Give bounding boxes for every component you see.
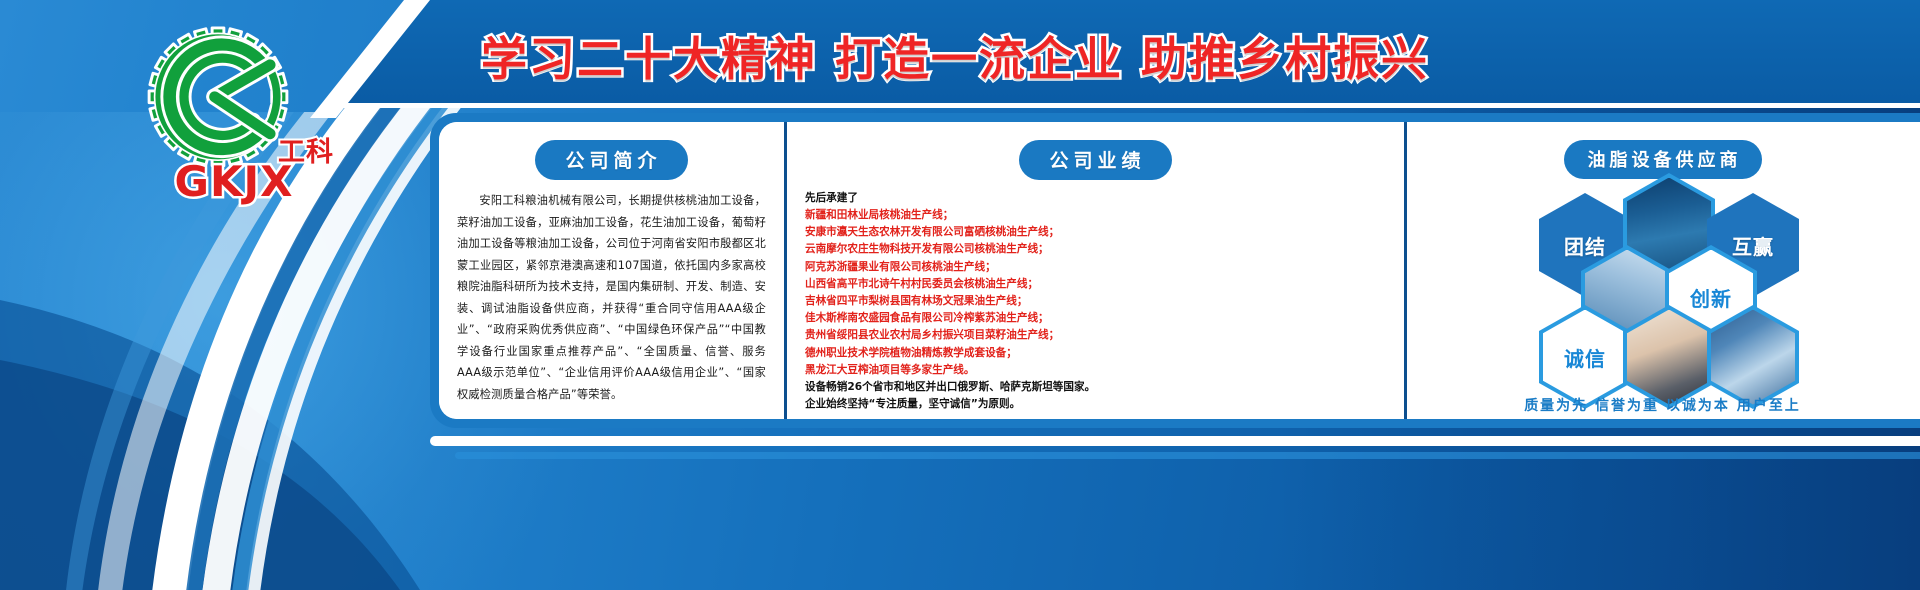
supplier-slogan: 质量为先 信誉为重 以诚为本 用户至上	[1407, 395, 1918, 415]
handshake-photo	[1627, 310, 1711, 405]
hex-integrity-label: 诚信	[1564, 343, 1606, 372]
panel-title-company-profile: 公司简介	[535, 140, 687, 180]
company-profile-text: 安阳工科粮油机械有限公司，长期提供核桃油加工设备，菜籽油加工设备，亚麻油加工设备…	[457, 190, 766, 405]
list-item: 贵州省绥阳县农业农村局乡村振兴项目菜籽油生产线；	[805, 327, 1386, 344]
content-board-inner: 公司简介 安阳工科粮油机械有限公司，长期提供核桃油加工设备，菜籽油加工设备，亚麻…	[439, 122, 1920, 419]
list-item: 德州职业技术学院植物油精炼教学成套设备；	[805, 345, 1386, 362]
panel-title-supplier: 油脂设备供应商	[1564, 140, 1762, 179]
list-item: 吉林省四平市梨树县国有林场文冠果油生产线；	[805, 293, 1386, 310]
hexagon-cluster: 团结 互赢 创新	[1425, 189, 1900, 399]
panel-company-achievements: 公司业绩 先后承建了 新疆和田林业局核桃油生产线； 安康市瀛天生态农林开发有限公…	[784, 122, 1404, 419]
list-item: 佳木斯桦南农盛园食品有限公司冷榨紫苏油生产线；	[805, 310, 1386, 327]
building-photo	[1711, 310, 1795, 405]
gear-logo-icon	[134, 26, 302, 176]
list-item: 云南摩尔农庄生物科技开发有限公司核桃油生产线；	[805, 241, 1386, 258]
hex-unity-label: 团结	[1564, 231, 1606, 260]
list-item: 新疆和田林业局核桃油生产线；	[805, 207, 1386, 224]
bottom-blue-strip	[455, 452, 1920, 459]
content-board: 公司简介 安阳工科粮油机械有限公司，长期提供核桃油加工设备，菜籽油加工设备，亚麻…	[430, 113, 1920, 428]
achievements-footer-line-2: 企业始终坚持“专注质量，坚守诚信”为原则。	[805, 396, 1386, 413]
achievements-intro: 先后承建了	[805, 190, 1386, 207]
panel-title-company-achievements: 公司业绩	[1019, 140, 1171, 180]
list-item: 黑龙江大豆榨油项目等多家生产线。	[805, 362, 1386, 379]
list-item: 阿克苏浙疆果业有限公司核桃油生产线；	[805, 259, 1386, 276]
list-item: 山西省高平市北诗午村村民委员会核桃油生产线；	[805, 276, 1386, 293]
panel-company-profile: 公司简介 安阳工科粮油机械有限公司，长期提供核桃油加工设备，菜籽油加工设备，亚麻…	[439, 122, 784, 419]
hex-integrity-inner: 诚信	[1543, 310, 1627, 405]
company-logo: 工科 GKJX	[120, 26, 330, 206]
achievements-list: 新疆和田林业局核桃油生产线； 安康市瀛天生态农林开发有限公司富硒核桃油生产线； …	[805, 207, 1386, 379]
panel-oil-equipment-supplier: 油脂设备供应商 团结 互赢 创新	[1404, 122, 1918, 419]
list-item: 安康市瀛天生态农林开发有限公司富硒核桃油生产线；	[805, 224, 1386, 241]
hex-innovation-label: 创新	[1690, 283, 1732, 312]
bottom-white-strip	[430, 436, 1920, 446]
page-title: 学习二十大精神 打造一流企业 助推乡村振兴	[430, 22, 1480, 90]
achievements-footer-line-1: 设备畅销26个省市和地区并出口俄罗斯、哈萨克斯坦等国家。	[805, 379, 1386, 396]
logo-english-text: GKJX	[134, 157, 334, 206]
hex-winwin-label: 互赢	[1732, 231, 1774, 260]
